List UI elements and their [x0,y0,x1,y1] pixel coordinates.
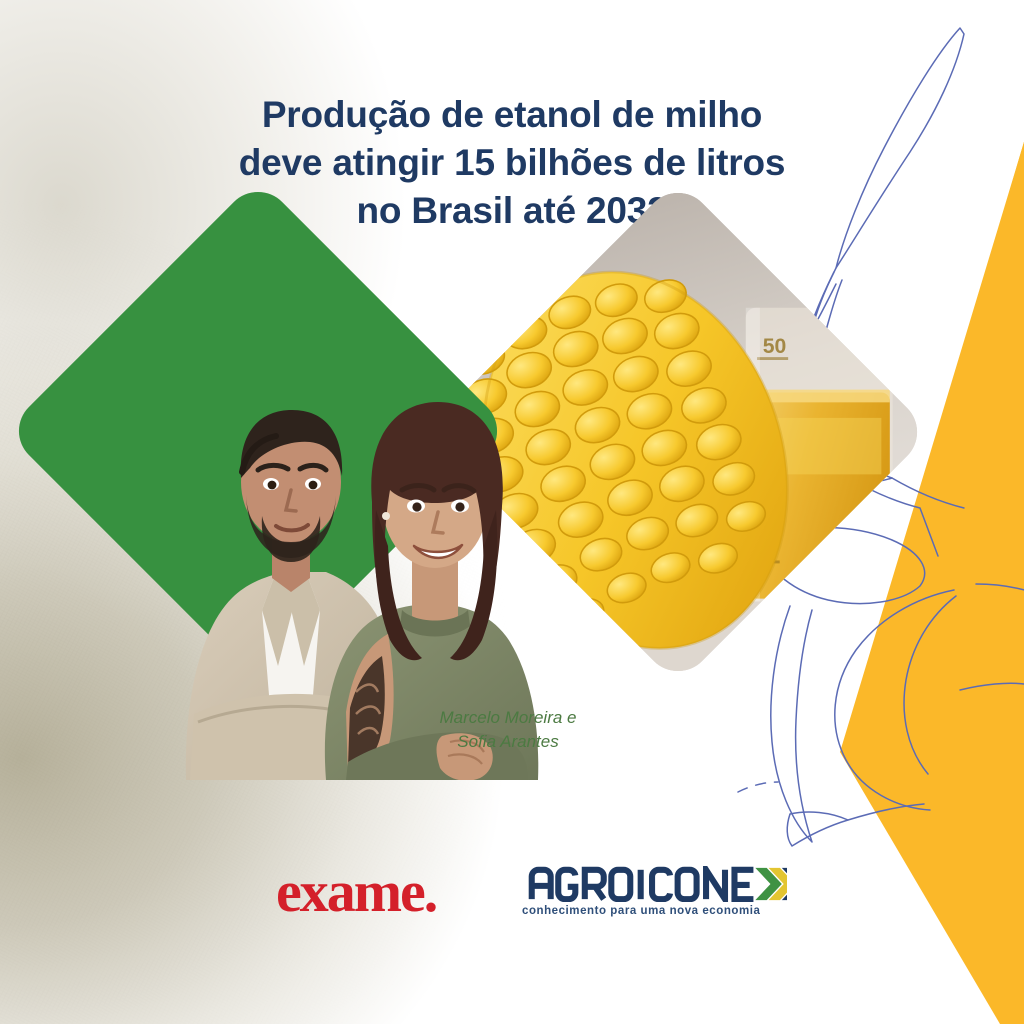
promo-poster: Produção de etanol de milho deve atingir… [0,0,1024,1024]
exame-logo[interactable]: exame. [276,863,436,921]
agroicone-logo[interactable]: conhecimento para uma nova economia [519,866,787,928]
headline-line-2-after: de litros [633,142,785,183]
headline-line-3: no Brasil até 2032 [356,190,667,231]
agroicone-tagline: conhecimento para uma nova economia [522,905,760,917]
headline-emphasis: 15 bilhões [454,142,633,183]
headline: Produção de etanol de milho deve atingir… [0,91,1024,235]
headline-line-2-before: deve atingir [239,142,454,183]
headline-line-1: Produção de etanol de milho [262,94,762,135]
agroicone-wordmark [519,866,787,902]
photo-credit: Marcelo Moreira e Sofia Arantes [398,706,618,754]
agroicone-chevrons [755,868,787,900]
beaker-scale-label: 50 [763,335,787,358]
